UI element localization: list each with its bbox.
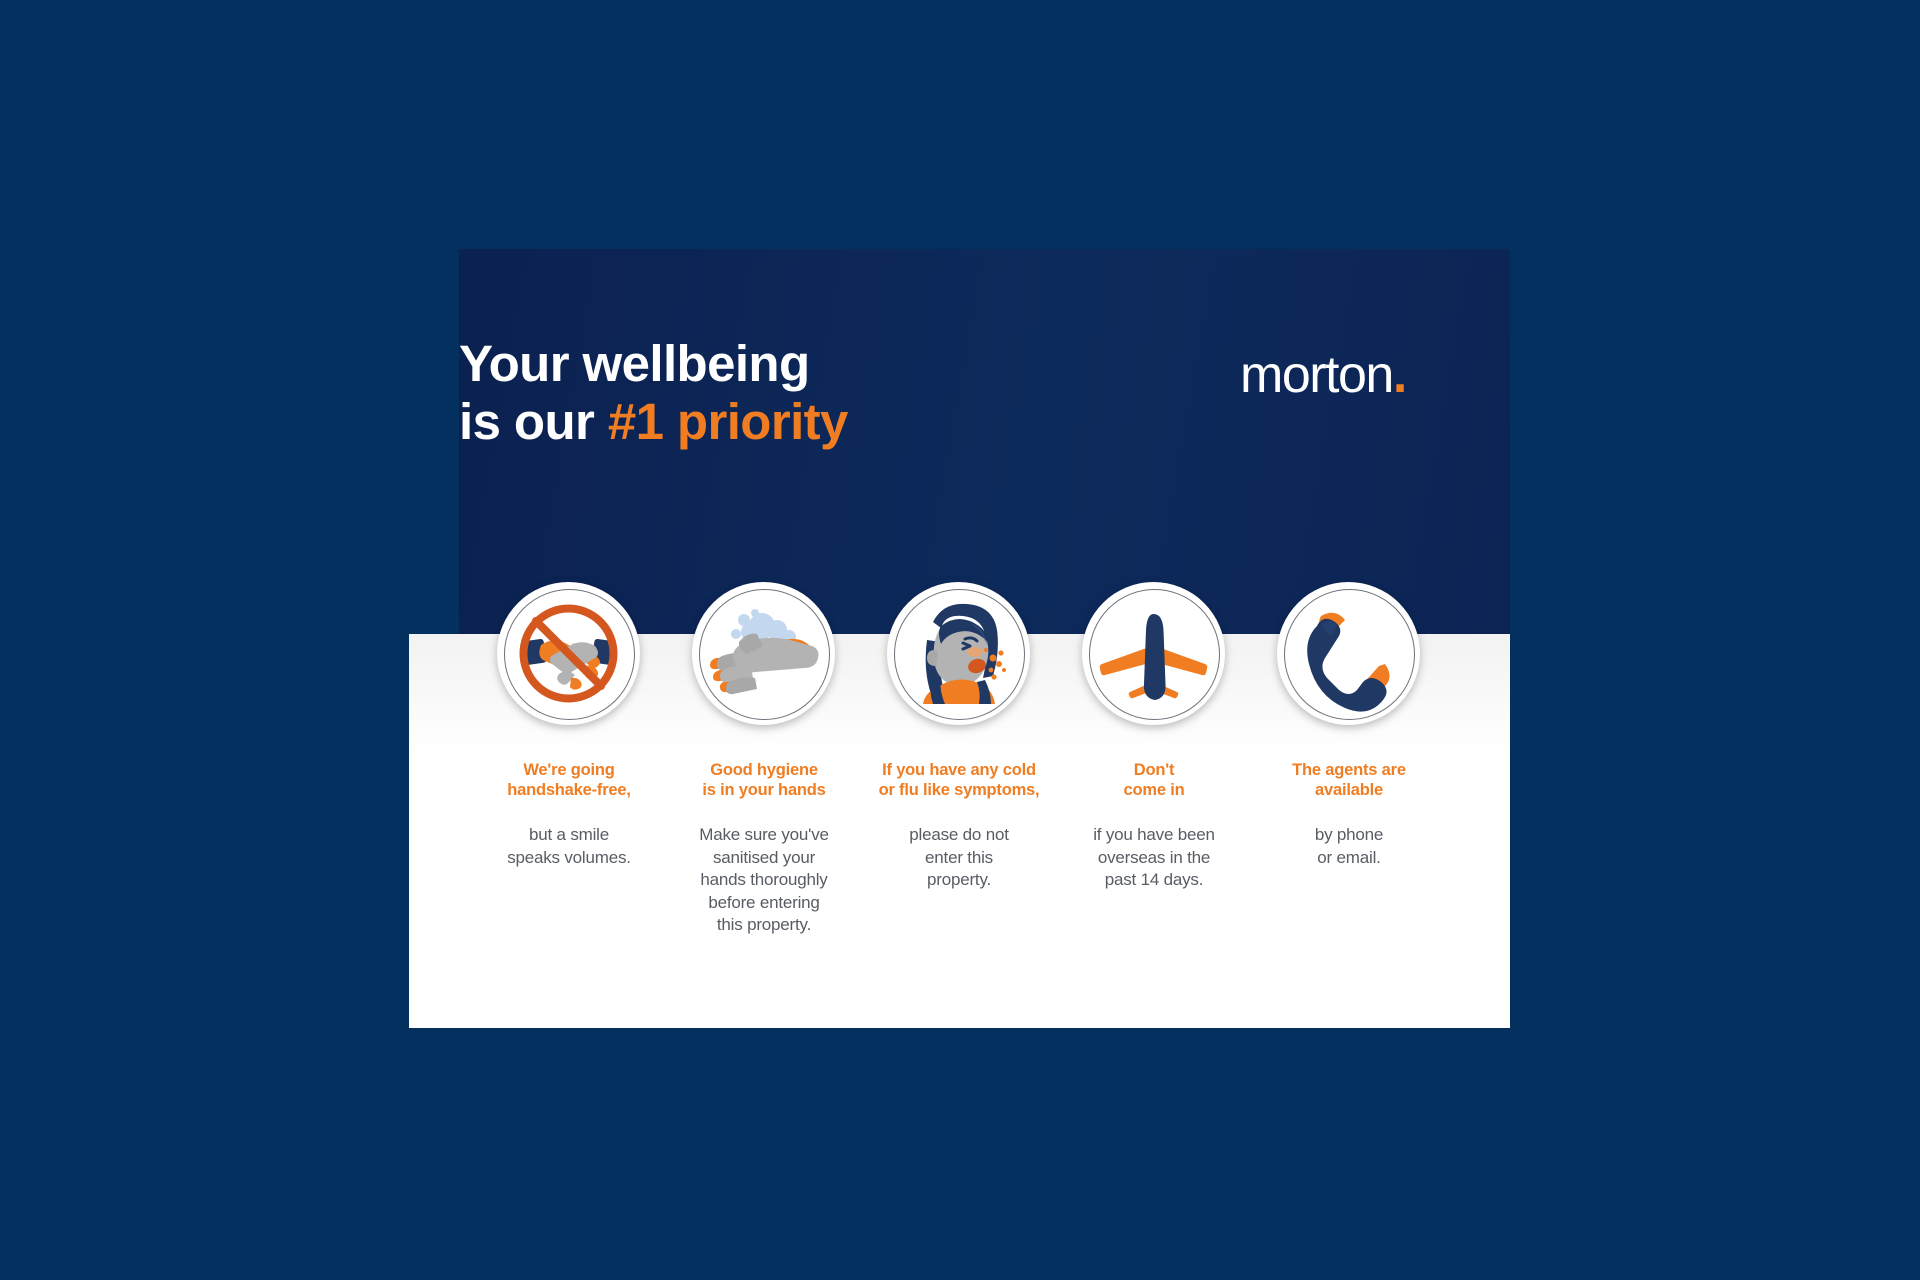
caption-heading: The agents are available bbox=[1249, 760, 1449, 800]
icon-circle-no-handshake bbox=[497, 582, 640, 725]
headline-line-2-accent: #1 priority bbox=[608, 393, 848, 450]
airplane-icon bbox=[1082, 582, 1225, 725]
caption-column-2: Good hygiene is in your hands Make sure … bbox=[692, 760, 835, 936]
icon-circle-hand-washing bbox=[692, 582, 835, 725]
logo-wordmark: morton bbox=[1240, 346, 1393, 404]
page-title: Your wellbeing is our #1 priority bbox=[459, 335, 848, 450]
caption-heading: If you have any cold or flu like symptom… bbox=[859, 760, 1059, 800]
caption-column-4: Don't come in if you have been overseas … bbox=[1082, 760, 1225, 936]
caption-heading: We're going handshake-free, bbox=[469, 760, 669, 800]
caption-heading: Good hygiene is in your hands bbox=[664, 760, 864, 800]
caption-row: We're going handshake-free, but a smile … bbox=[409, 760, 1510, 936]
caption-column-1: We're going handshake-free, but a smile … bbox=[497, 760, 640, 936]
caption-column-5: The agents are available by phone or ema… bbox=[1277, 760, 1420, 936]
headline-line-1: Your wellbeing bbox=[459, 335, 848, 393]
caption-body: but a smile speaks volumes. bbox=[469, 824, 669, 869]
caption-heading: Don't come in bbox=[1054, 760, 1254, 800]
headline-line-2: is our #1 priority bbox=[459, 393, 848, 451]
telephone-handset-icon bbox=[1277, 582, 1420, 725]
icon-row bbox=[409, 582, 1510, 742]
headline-line-2-plain: is our bbox=[459, 393, 608, 450]
caption-body: by phone or email. bbox=[1249, 824, 1449, 869]
logo-dot: . bbox=[1393, 346, 1406, 404]
caption-body: if you have been overseas in the past 14… bbox=[1054, 824, 1254, 891]
icon-circle-telephone bbox=[1277, 582, 1420, 725]
hand-washing-icon bbox=[692, 582, 835, 725]
icon-circle-airplane bbox=[1082, 582, 1225, 725]
caption-body: please do not enter this property. bbox=[859, 824, 1059, 891]
no-handshake-icon bbox=[497, 582, 640, 725]
morton-logo: morton. bbox=[1240, 345, 1406, 405]
icon-circle-sneezing-person bbox=[887, 582, 1030, 725]
caption-body: Make sure you've sanitised your hands th… bbox=[664, 824, 864, 936]
caption-column-3: If you have any cold or flu like symptom… bbox=[887, 760, 1030, 936]
sneezing-person-icon bbox=[887, 582, 1030, 725]
